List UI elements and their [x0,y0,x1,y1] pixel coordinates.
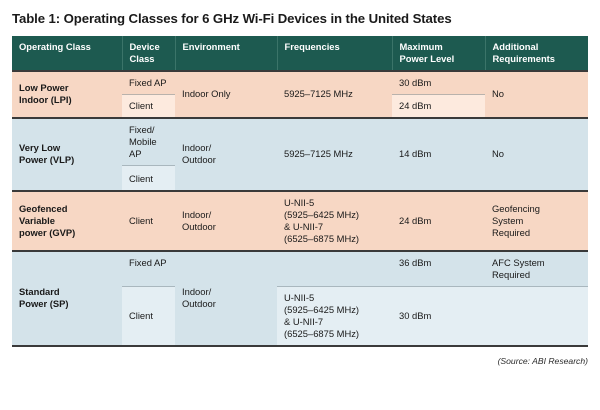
cell-power: 24 dBm [392,94,485,118]
frequencies-line2: (5925–6425 MHz) [284,304,359,315]
environment-line2: Outdoor [182,298,216,309]
page-title: Table 1: Operating Classes for 6 GHz Wi-… [12,0,588,36]
operating-class-line1: Geofenced [19,203,67,214]
column-header-additional-line2: Requirements [493,53,556,64]
column-header-power-line1: Maximum [400,41,443,52]
cell-power: 36 dBm [392,251,485,287]
cell-operating-class: Low Power Indoor (LPI) [12,71,122,118]
table-row: Very Low Power (VLP) Fixed/ Mobile AP In… [12,118,588,166]
column-header-additional-requirements: Additional Requirements [485,36,588,71]
cell-power: 30 dBm [392,286,485,345]
operating-class-line3: power (GVP) [19,227,75,238]
operating-classes-table: Operating Class Device Class Environment… [12,36,588,346]
frequencies-line3: & U-NII-7 [284,316,323,327]
cell-device-class: Client [122,191,175,251]
frequencies-line2: (5925–6425 MHz) [284,209,359,220]
cell-additional: No [485,118,588,191]
environment-line1: Indoor/ [182,286,211,297]
column-header-maximum-power-level: Maximum Power Level [392,36,485,71]
operating-class-line2: Variable [19,215,55,226]
cell-additional: AFC System Required [485,251,588,287]
cell-frequencies-empty [277,251,392,287]
cell-frequencies: U-NII-5 (5925–6425 MHz) & U-NII-7 (6525–… [277,191,392,251]
cell-frequencies: U-NII-5 (5925–6425 MHz) & U-NII-7 (6525–… [277,286,392,345]
cell-device-class: Client [122,165,175,191]
column-header-power-line2: Power Level [400,53,455,64]
table-row: Standard Power (SP) Fixed AP Indoor/ Out… [12,251,588,287]
device-class-line1: Fixed/ [129,124,155,135]
frequencies-line1: U-NII-5 [284,197,314,208]
cell-additional: Geofencing System Required [485,191,588,251]
table-page: Table 1: Operating Classes for 6 GHz Wi-… [0,0,600,410]
cell-operating-class: Very Low Power (VLP) [12,118,122,191]
environment-line2: Outdoor [182,221,216,232]
cell-device-class: Fixed AP [122,71,175,95]
table-row: Geofenced Variable power (GVP) Client In… [12,191,588,251]
environment-line1: Indoor/ [182,142,211,153]
frequencies-line3: & U-NII-7 [284,221,323,232]
table-body: Low Power Indoor (LPI) Fixed AP Indoor O… [12,71,588,346]
column-header-frequencies: Frequencies [277,36,392,71]
cell-device-class: Fixed/ Mobile AP [122,118,175,166]
frequencies-line1: U-NII-5 [284,292,314,303]
column-header-device-class-line1: Device [130,41,160,52]
cell-environment: Indoor Only [175,71,277,118]
operating-class-line2: Indoor (LPI) [19,94,72,105]
cell-power: 24 dBm [392,191,485,251]
cell-operating-class: Geofenced Variable power (GVP) [12,191,122,251]
table-row: Low Power Indoor (LPI) Fixed AP Indoor O… [12,71,588,95]
cell-environment: Indoor/ Outdoor [175,118,277,191]
column-header-additional-line1: Additional [493,41,539,52]
cell-additional [485,286,588,345]
operating-class-line2: Power (SP) [19,298,69,309]
column-header-operating-class: Operating Class [12,36,122,71]
additional-line2: Required [492,269,530,280]
additional-line1: AFC System [492,257,545,268]
additional-line3: Required [492,227,530,238]
additional-line2: System [492,215,523,226]
operating-class-line1: Low Power [19,82,68,93]
operating-class-line1: Very Low [19,142,60,153]
cell-environment: Indoor/ Outdoor [175,191,277,251]
cell-device-class: Client [122,286,175,345]
source-attribution: (Source: ABI Research) [12,347,588,366]
device-class-line2: Mobile AP [129,136,157,159]
cell-frequencies: 5925–7125 MHz [277,118,392,191]
cell-environment: Indoor/ Outdoor [175,251,277,345]
column-header-device-class-line2: Class [130,53,155,64]
cell-power: 30 dBm [392,71,485,95]
frequencies-line4: (6525–6875 MHz) [284,328,359,339]
cell-frequencies: 5925–7125 MHz [277,71,392,118]
cell-device-class: Fixed AP [122,251,175,287]
cell-device-class: Client [122,94,175,118]
cell-operating-class: Standard Power (SP) [12,251,122,345]
table-header: Operating Class Device Class Environment… [12,36,588,71]
header-row: Operating Class Device Class Environment… [12,36,588,71]
column-header-environment: Environment [175,36,277,71]
cell-additional: No [485,71,588,118]
cell-power: 14 dBm [392,118,485,191]
operating-class-line2: Power (VLP) [19,154,74,165]
additional-line1: Geofencing [492,203,540,214]
column-header-device-class: Device Class [122,36,175,71]
frequencies-line4: (6525–6875 MHz) [284,233,359,244]
environment-line2: Outdoor [182,154,216,165]
operating-class-line1: Standard [19,286,60,297]
environment-line1: Indoor/ [182,209,211,220]
